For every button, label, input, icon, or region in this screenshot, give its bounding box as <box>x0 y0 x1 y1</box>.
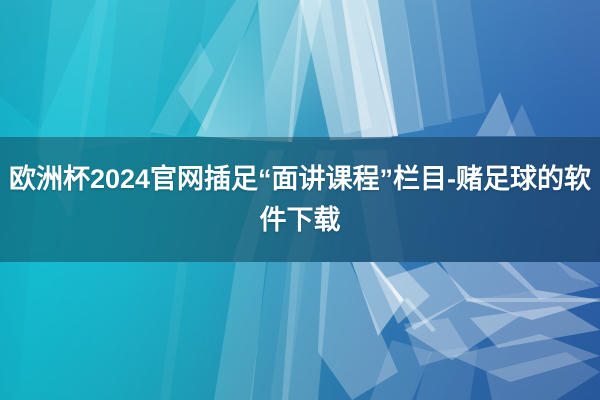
promo-banner: 欧洲杯2024官网插足“面讲课程”栏目-赌足球的软件下载 <box>0 0 600 400</box>
headline-container: 欧洲杯2024官网插足“面讲课程”栏目-赌足球的软件下载 <box>0 137 600 262</box>
banner-headline: 欧洲杯2024官网插足“面讲课程”栏目-赌足球的软件下载 <box>8 159 592 241</box>
